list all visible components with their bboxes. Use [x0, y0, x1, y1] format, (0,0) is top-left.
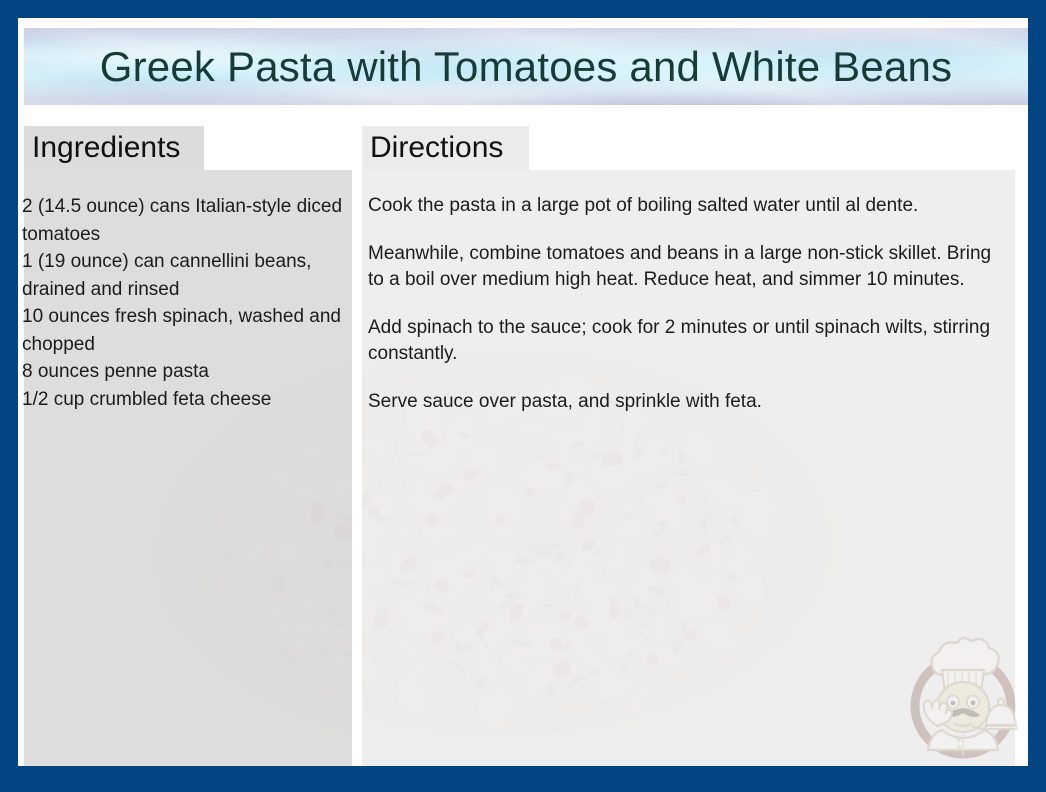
frame-top-border [0, 0, 1046, 18]
frame-bottom-border [0, 766, 1046, 792]
title-banner: Greek Pasta with Tomatoes and White Bean… [24, 28, 1028, 105]
direction-step: Add spinach to the sauce; cook for 2 min… [368, 315, 1012, 367]
list-item: 10 ounces fresh spinach, washed and chop… [22, 303, 348, 358]
direction-step: Meanwhile, combine tomatoes and beans in… [368, 241, 1012, 293]
list-item: 1 (19 ounce) can cannellini beans, drain… [22, 248, 348, 303]
direction-step: Cook the pasta in a large pot of boiling… [368, 193, 1012, 219]
column-divider [352, 105, 362, 766]
list-item: 8 ounces penne pasta [22, 358, 348, 386]
frame-left-border [0, 0, 18, 792]
directions-steps: Cook the pasta in a large pot of boiling… [368, 193, 1012, 415]
ingredients-heading: Ingredients [32, 131, 180, 165]
list-item: 1/2 cup crumbled feta cheese [22, 386, 348, 414]
ingredients-header-tab: Ingredients [24, 126, 204, 170]
directions-heading: Directions [370, 131, 503, 165]
direction-step: Serve sauce over pasta, and sprinkle wit… [368, 389, 1012, 415]
ingredients-list: 2 (14.5 ounce) cans Italian-style diced … [22, 193, 348, 413]
recipe-slide: Greek Pasta with Tomatoes and White Bean… [0, 0, 1046, 792]
frame-right-border [1028, 0, 1046, 792]
directions-header-tab: Directions [362, 126, 529, 170]
page-title: Greek Pasta with Tomatoes and White Bean… [24, 28, 1028, 105]
list-item: 2 (14.5 ounce) cans Italian-style diced … [22, 193, 348, 248]
